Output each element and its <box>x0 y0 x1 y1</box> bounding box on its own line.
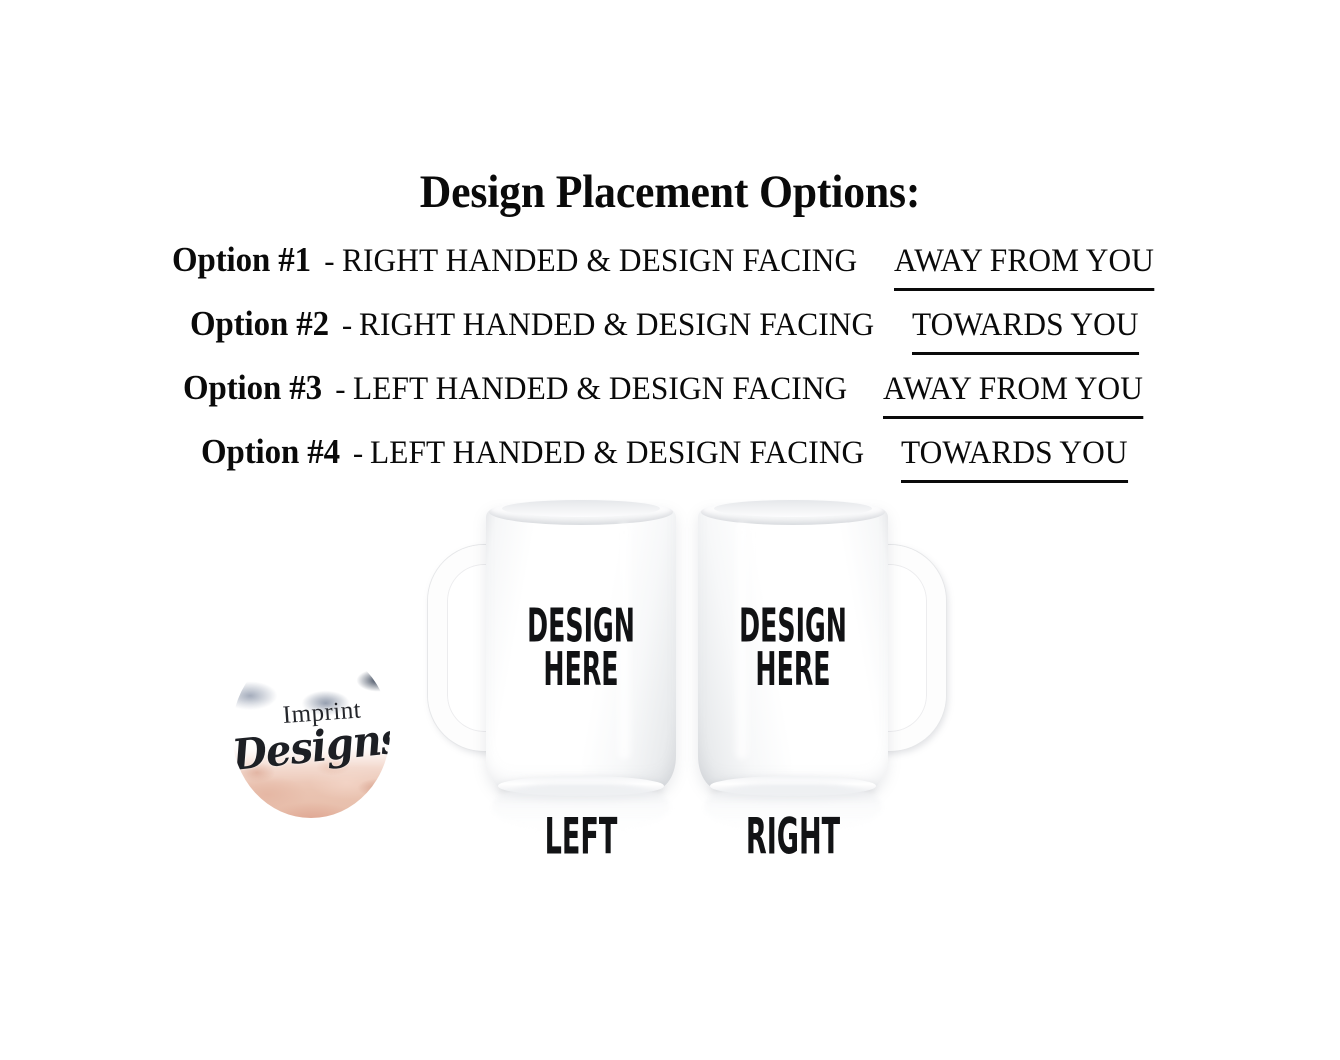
mug-rim <box>701 499 885 525</box>
mug-design-placeholder: DESIGN HERE <box>725 605 862 692</box>
option-emphasis: TOWARDS YOU <box>901 435 1128 474</box>
option-row: Option #3 - LEFT HANDED & DESIGN FACING … <box>170 368 1170 432</box>
mug-right-handed: DESIGN HERE <box>698 507 888 797</box>
mug-rim-inner <box>714 500 872 517</box>
option-row: Option #4 - LEFT HANDED & DESIGN FACING … <box>170 432 1170 496</box>
option-emphasis: AWAY FROM YOU <box>883 371 1143 410</box>
mug-rim <box>489 499 673 525</box>
mug-mockup-scene: DESIGN HERE DESIGN HERE LEFT RIGHT <box>420 495 940 865</box>
option-emphasis: TOWARDS YOU <box>912 307 1139 346</box>
mug-rim-inner <box>502 500 660 517</box>
design-line-2: HERE <box>513 649 650 693</box>
option-dash: - <box>331 371 352 407</box>
option-emphasis: AWAY FROM YOU <box>894 243 1154 282</box>
option-description: RIGHT HANDED & DESIGN FACING <box>359 307 874 344</box>
design-line-2: HERE <box>725 649 862 693</box>
option-row: Option #2 - RIGHT HANDED & DESIGN FACING… <box>170 304 1170 368</box>
option-dash: - <box>338 307 359 343</box>
option-label: Option #2 <box>190 304 329 344</box>
options-list: Option #1 - RIGHT HANDED & DESIGN FACING… <box>170 240 1170 496</box>
option-label: Option #3 <box>183 368 322 408</box>
option-row: Option #1 - RIGHT HANDED & DESIGN FACING… <box>170 240 1170 304</box>
option-description: RIGHT HANDED & DESIGN FACING <box>342 243 857 280</box>
mug-caption-left: LEFT <box>515 813 648 863</box>
option-label: Option #4 <box>201 432 340 472</box>
option-description: LEFT HANDED & DESIGN FACING <box>353 371 847 408</box>
option-dash: - <box>320 243 341 279</box>
brand-logo-badge: Imprint Designs <box>232 646 390 818</box>
mug-design-placeholder: DESIGN HERE <box>513 605 650 692</box>
option-label: Option #1 <box>172 240 311 280</box>
page-title: Design Placement Options: <box>47 168 1293 217</box>
poster-canvas: Design Placement Options: Option #1 - RI… <box>0 0 1340 1060</box>
option-description: LEFT HANDED & DESIGN FACING <box>370 435 864 472</box>
mug-caption-right: RIGHT <box>727 813 860 863</box>
option-dash: - <box>349 435 370 471</box>
mug-left-handed: DESIGN HERE <box>486 507 676 797</box>
